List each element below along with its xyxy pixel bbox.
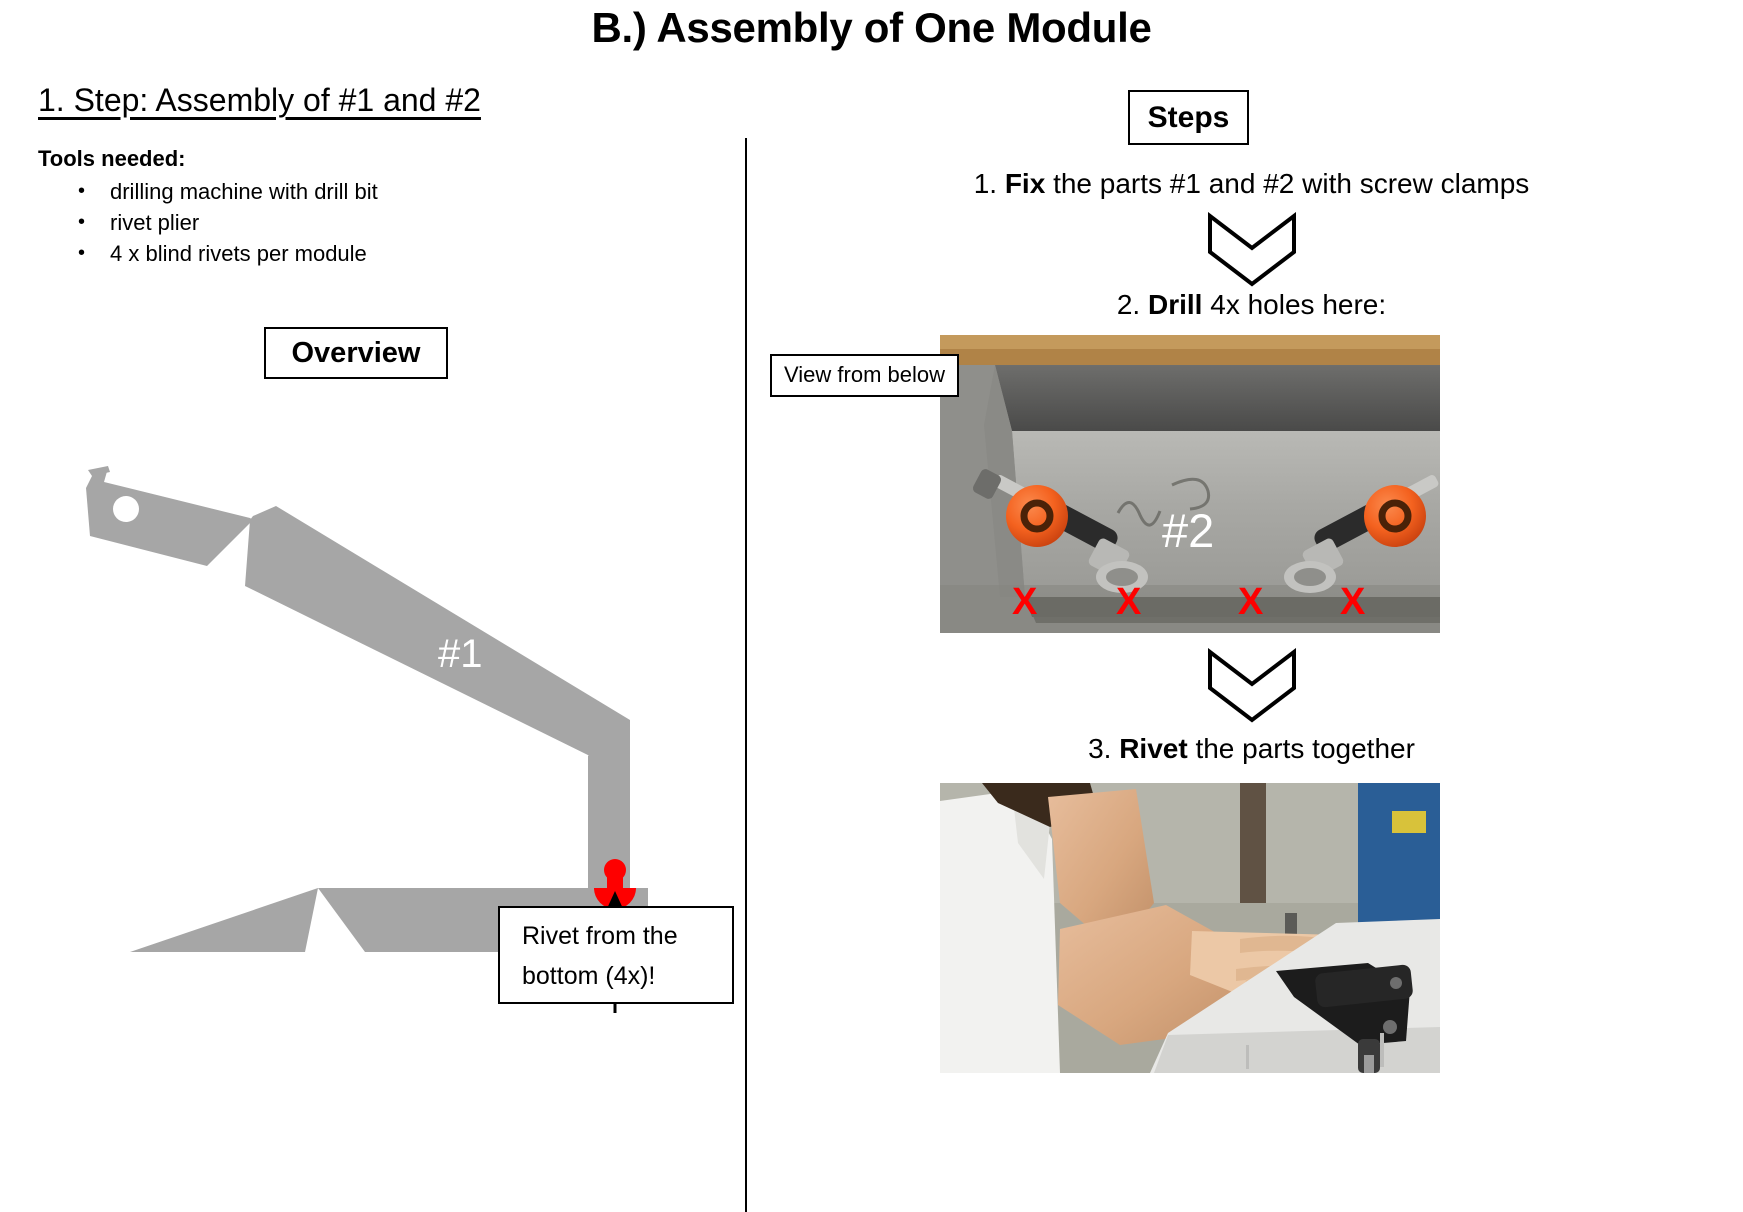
tool-label: drilling machine with drill bit [110, 179, 378, 204]
part-1-label: #1 [438, 632, 483, 676]
bullet-icon: • [78, 207, 85, 238]
list-item: • 4 x blind rivets per module [78, 238, 378, 269]
step-1-text: 1. Fix the parts #1 and #2 with screw cl… [760, 168, 1743, 200]
part-1-tab-shape [86, 468, 253, 566]
photo-part-2-label: #2 [1162, 503, 1214, 558]
chevron-down-icon [1206, 212, 1298, 288]
rivet-callout-line-2: bottom (4x)! [522, 956, 732, 996]
step-3-verb: Rivet [1119, 733, 1187, 764]
step-3-rest: the parts together [1195, 733, 1414, 764]
list-item: • drilling machine with drill bit [78, 176, 378, 207]
step-3-number: 3. [1088, 733, 1111, 764]
bullet-icon: • [78, 238, 85, 269]
drill-mark-1: X [1012, 583, 1037, 621]
part-1-hole [113, 496, 139, 522]
rivet-callout-box: Rivet from the bottom (4x)! [498, 906, 734, 1004]
column-divider [745, 138, 747, 1212]
step-1-rest: the parts #1 and #2 with screw clamps [1053, 168, 1529, 199]
view-from-below-label: View from below [770, 354, 959, 397]
tools-needed-label: Tools needed: [38, 146, 186, 172]
rivet-callout-line-1: Rivet from the [522, 916, 732, 956]
list-item: • rivet plier [78, 207, 378, 238]
bullet-icon: • [78, 176, 85, 207]
drill-mark-2: X [1116, 583, 1141, 621]
tool-label: 4 x blind rivets per module [110, 241, 367, 266]
overview-label-box: Overview [264, 327, 448, 379]
photo-drill-holes: #2 X X X X [940, 335, 1440, 633]
drill-mark-4: X [1340, 583, 1365, 621]
step-1-verb: Fix [1005, 168, 1045, 199]
photo-riveting [940, 783, 1440, 1073]
part-2-flange-shape [130, 888, 318, 952]
step-3-text: 3. Rivet the parts together [760, 733, 1743, 765]
drill-mark-3: X [1238, 583, 1263, 621]
left-column: 1. Step: Assembly of #1 and #2 Tools nee… [0, 70, 830, 1210]
step-heading: 1. Step: Assembly of #1 and #2 [38, 82, 481, 119]
overview-diagram: #1 #2 [0, 388, 760, 968]
step-1-number: 1. [974, 168, 997, 199]
tools-list: • drilling machine with drill bit • rive… [38, 176, 378, 269]
step-2-verb: Drill [1148, 289, 1202, 320]
step-2-text: 2. Drill 4x holes here: [760, 289, 1743, 321]
photo-riveting-graphic [940, 783, 1440, 1073]
right-column: Steps 1. Fix the parts #1 and #2 with sc… [760, 0, 1743, 1212]
steps-label-box: Steps [1128, 90, 1249, 145]
step-2-number: 2. [1117, 289, 1140, 320]
chevron-down-icon [1206, 648, 1298, 724]
step-2-rest: 4x holes here: [1210, 289, 1386, 320]
tool-label: rivet plier [110, 210, 199, 235]
